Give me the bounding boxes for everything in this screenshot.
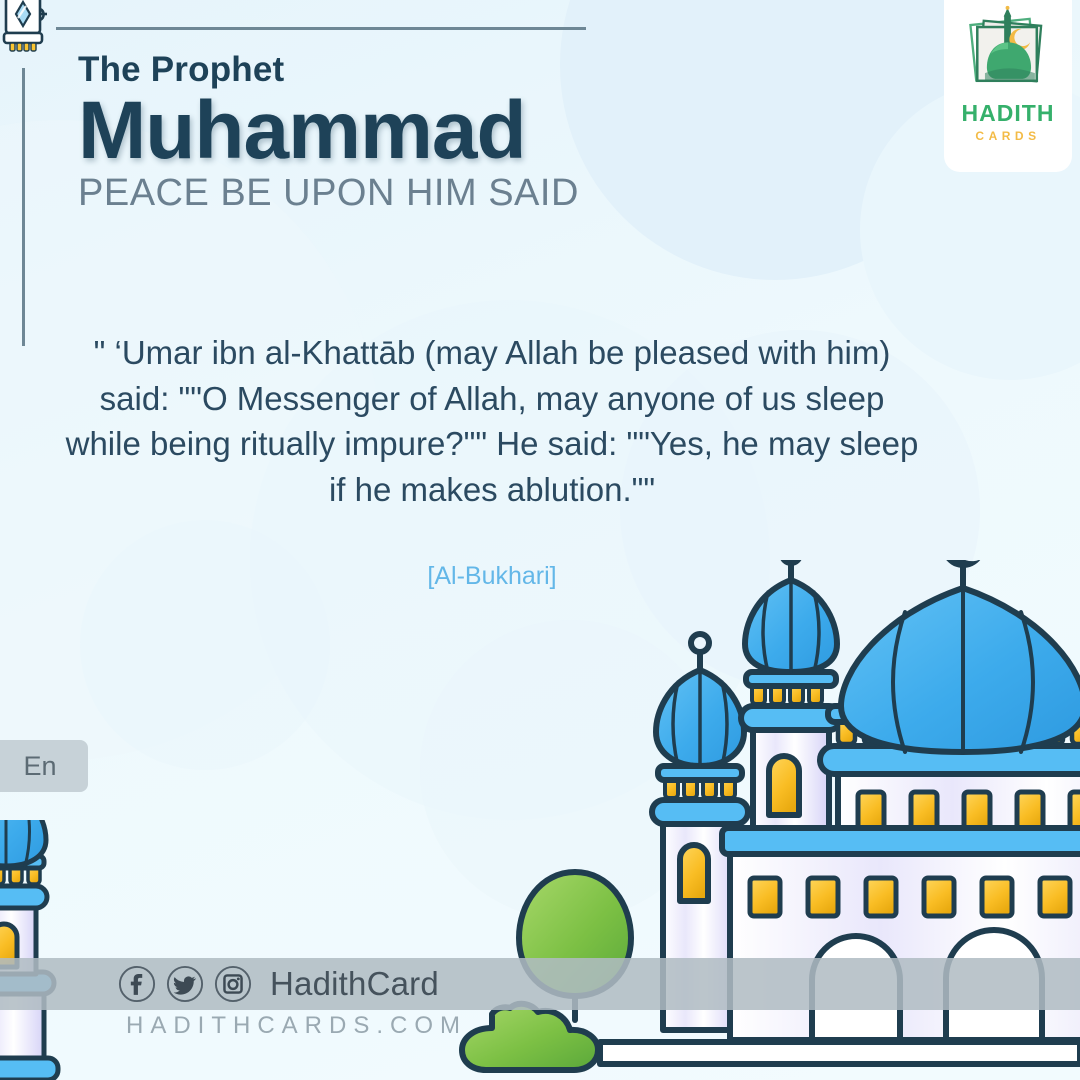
header-subtitle: PEACE BE UPON HIM SAID (78, 174, 579, 212)
mosque-base (600, 1042, 1080, 1064)
page-title: Muhammad (78, 91, 579, 171)
instagram-icon[interactable] (214, 965, 252, 1003)
main-dome-structure (820, 560, 1080, 846)
brand-logo[interactable]: HADITH CARDS (944, 0, 1072, 172)
minaret-left (0, 820, 110, 1080)
facebook-icon[interactable] (118, 965, 156, 1003)
mosque-photo-cards-icon (960, 4, 1056, 100)
footer-brand-name: HadithCard (270, 965, 439, 1003)
twitter-icon[interactable] (166, 965, 204, 1003)
header-eyebrow: The Prophet (78, 52, 579, 87)
header-horizontal-rule (56, 27, 586, 30)
logo-primary-text: HADITH (962, 102, 1055, 125)
footer-website-url: HADITHCARDS.COM (126, 1012, 467, 1040)
bg-blob (560, 0, 990, 280)
footer-content: HadithCard (118, 960, 439, 1008)
lantern-icon (2, 0, 50, 62)
header-vertical-rule (22, 68, 25, 346)
hadith-quote-text: " ‘Umar ibn al-Khattāb (may Allah be ple… (62, 330, 922, 512)
card-header: The Prophet Muhammad PEACE BE UPON HIM S… (78, 52, 579, 212)
hadith-card: The Prophet Muhammad PEACE BE UPON HIM S… (0, 0, 1080, 1080)
logo-secondary-text: CARDS (975, 130, 1040, 142)
